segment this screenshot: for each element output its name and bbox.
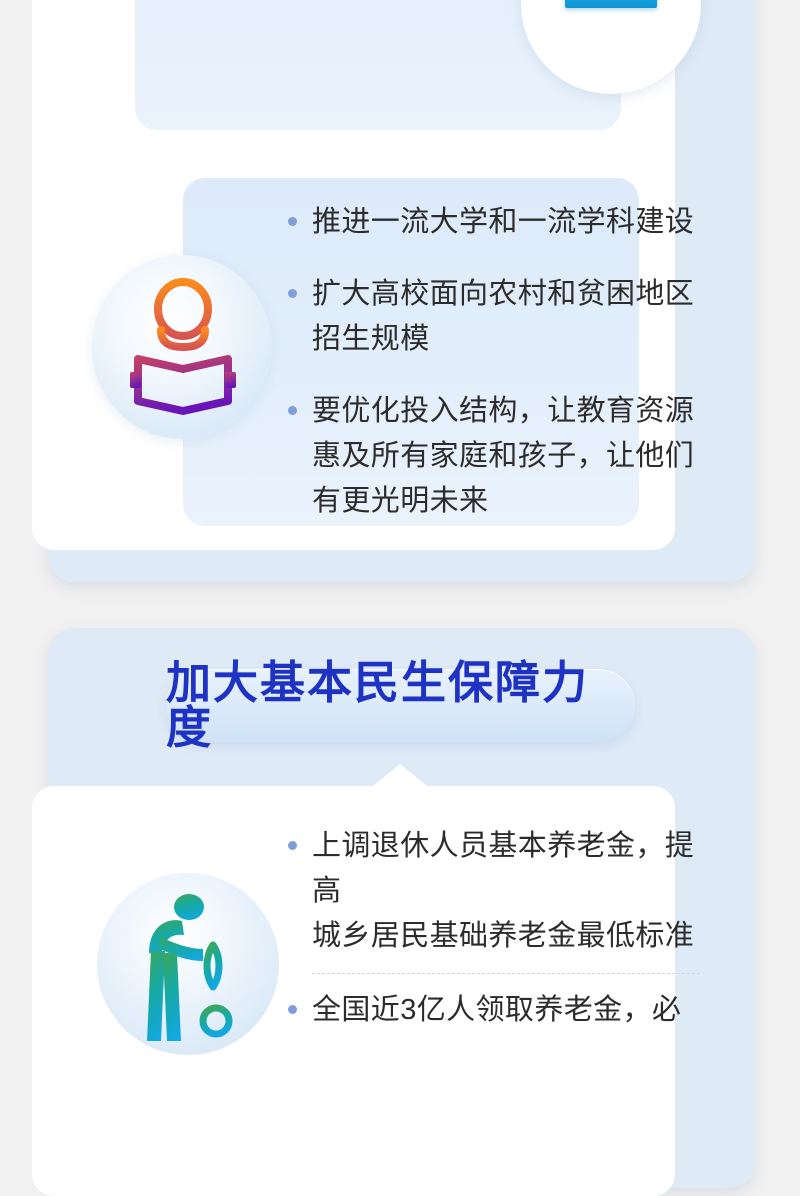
list-item-text: 扩大高校面向农村和贫困地区 招生规模 (312, 272, 694, 362)
livelihood-panel-notch (368, 764, 432, 790)
list-item: 上调退休人员基本养老金，提高 城乡居民基础养老金最低标准 (288, 824, 708, 959)
list-item: 扩大高校面向农村和贫困地区 招生规模 (288, 272, 698, 362)
list-item: 推进一流大学和一流学科建设 (288, 200, 698, 245)
bullet-dot-icon (288, 841, 297, 850)
page-title: 加大基本民生保障力度 (166, 661, 635, 751)
education-bullet-list: 推进一流大学和一流学科建设 扩大高校面向农村和贫困地区 招生规模 要优化投入结构… (288, 200, 698, 551)
student-reading-book-icon (92, 255, 272, 439)
education-top-badge-bar (565, 0, 657, 8)
livelihood-bullet-list: 上调退休人员基本养老金，提高 城乡居民基础养老金最低标准 全国近3亿人领取养老金… (288, 824, 708, 1033)
livelihood-title-pill: 加大基本民生保障力度 (166, 669, 635, 742)
list-item: 全国近3亿人领取养老金，必 (288, 988, 708, 1033)
bullet-dot-icon (288, 289, 297, 298)
list-divider (312, 973, 700, 974)
bullet-dot-icon (288, 406, 297, 415)
student-reading-book-glyph (128, 277, 238, 417)
elderly-person-with-cane-icon (97, 873, 279, 1055)
list-item: 要优化投入结构，让教育资源 惠及所有家庭和孩子，让他们 有更光明未来 (288, 389, 698, 524)
list-item-text: 全国近3亿人领取养老金，必 (312, 988, 681, 1033)
list-item-text: 要优化投入结构，让教育资源 惠及所有家庭和孩子，让他们 有更光明未来 (312, 389, 694, 524)
list-item-text: 上调退休人员基本养老金，提高 城乡居民基础养老金最低标准 (312, 824, 708, 959)
elderly-person-with-cane-glyph (137, 891, 245, 1041)
bullet-dot-icon (288, 217, 297, 226)
list-item-text: 推进一流大学和一流学科建设 (312, 200, 694, 245)
infographic-page: 教育，支持和规范民办教育， 帮助民办幼儿园纾困 (0, 0, 800, 1000)
bullet-dot-icon (288, 1005, 297, 1014)
